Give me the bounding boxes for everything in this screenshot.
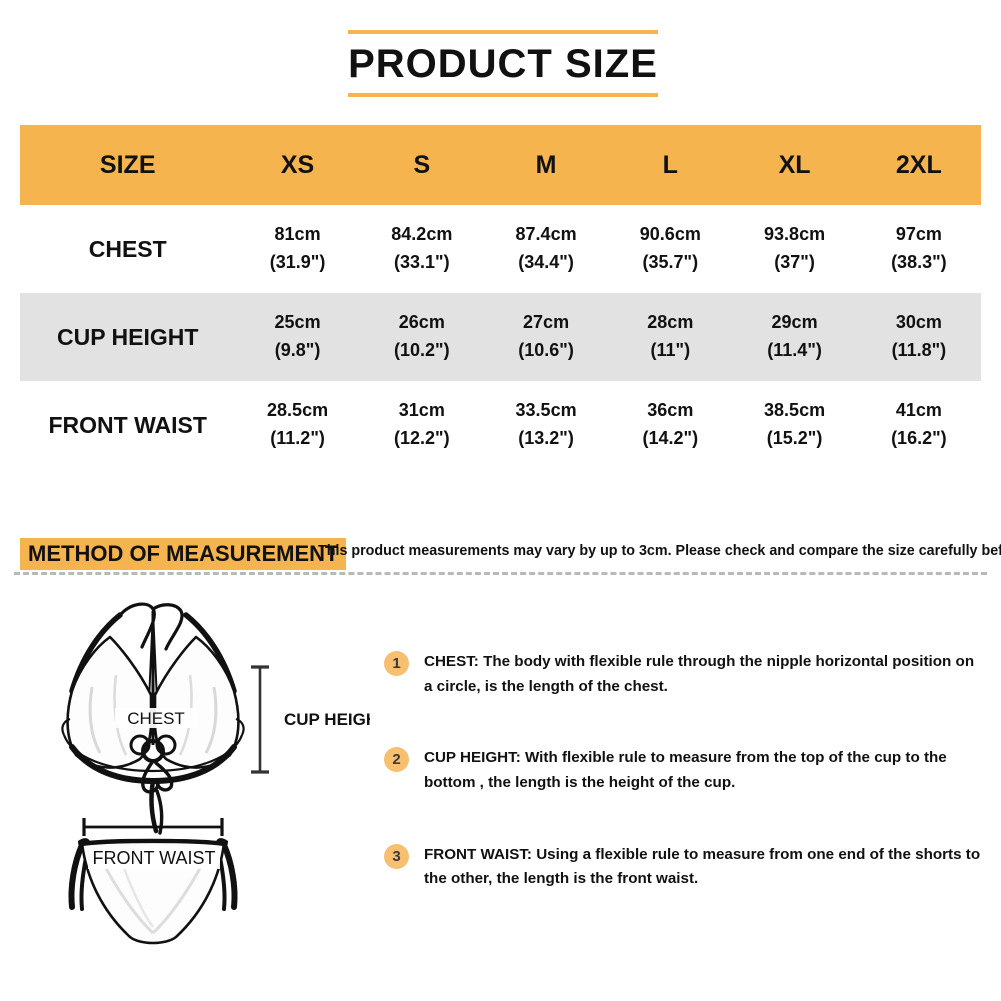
measurement-disclaimer: This product measurements may vary by up… — [318, 543, 1001, 559]
cell-cm: 27cm — [523, 312, 569, 332]
cell-cm: 41cm — [896, 400, 942, 420]
row-label-cup-height: CUP HEIGHT — [20, 293, 235, 381]
step-number-badge-2: 2 — [384, 747, 409, 772]
cell-cm: 25cm — [275, 312, 321, 332]
cell-inch: (38.3") — [857, 249, 981, 277]
cell-chest-l: 90.6cm(35.7") — [608, 205, 732, 293]
column-header-s: S — [360, 125, 484, 205]
cell-cup-height-2xl: 30cm(11.8") — [857, 293, 981, 381]
svg-text:CHEST: CHEST — [127, 709, 185, 728]
column-header-xl: XL — [732, 125, 856, 205]
cell-chest-s: 84.2cm(33.1") — [360, 205, 484, 293]
cell-inch: (13.2") — [484, 425, 608, 453]
cell-inch: (16.2") — [857, 425, 981, 453]
list-item: 2 CUP HEIGHT: With flexible rule to meas… — [384, 746, 984, 795]
cell-inch: (35.7") — [608, 249, 732, 277]
cell-chest-xs: 81cm(31.9") — [235, 205, 359, 293]
front-waist-measure-label: FRONT WAIST — [88, 847, 220, 869]
column-header-size: SIZE — [20, 125, 235, 205]
cell-front-waist-2xl: 41cm(16.2") — [857, 381, 981, 469]
cell-inch: (12.2") — [360, 425, 484, 453]
cell-cm: 81cm — [275, 224, 321, 244]
measurement-steps-list: 1 CHEST: The body with flexible rule thr… — [384, 650, 984, 939]
cell-cm: 28cm — [647, 312, 693, 332]
table-row: CHEST 81cm(31.9") 84.2cm(33.1") 87.4cm(3… — [20, 205, 981, 293]
size-chart-table: SIZE XS S M L XL 2XL CHEST 81cm(31.9") 8… — [20, 125, 981, 469]
method-of-measurement-heading: METHOD OF MEASUREMENT — [20, 538, 346, 570]
column-header-m: M — [484, 125, 608, 205]
cell-front-waist-s: 31cm(12.2") — [360, 381, 484, 469]
cell-cm: 36cm — [647, 400, 693, 420]
cell-front-waist-xs: 28.5cm(11.2") — [235, 381, 359, 469]
step-number-badge-1: 1 — [384, 651, 409, 676]
svg-text:CUP HEIGHT: CUP HEIGHT — [284, 710, 370, 729]
cell-chest-2xl: 97cm(38.3") — [857, 205, 981, 293]
cell-cm: 30cm — [896, 312, 942, 332]
cell-inch: (37") — [732, 249, 856, 277]
cell-inch: (9.8") — [235, 337, 359, 365]
cell-cm: 26cm — [399, 312, 445, 332]
row-label-chest: CHEST — [20, 205, 235, 293]
cell-cm: 97cm — [896, 224, 942, 244]
list-item: 1 CHEST: The body with flexible rule thr… — [384, 650, 984, 699]
cell-cup-height-xl: 29cm(11.4") — [732, 293, 856, 381]
cell-cup-height-m: 27cm(10.6") — [484, 293, 608, 381]
step-text-chest: CHEST: The body with flexible rule throu… — [424, 650, 984, 699]
table-row: CUP HEIGHT 25cm(9.8") 26cm(10.2") 27cm(1… — [20, 293, 981, 381]
cell-cup-height-l: 28cm(11") — [608, 293, 732, 381]
cell-inch: (11.2") — [235, 425, 359, 453]
row-label-front-waist: FRONT WAIST — [20, 381, 235, 469]
cell-front-waist-m: 33.5cm(13.2") — [484, 381, 608, 469]
bikini-measurement-illustration: CHEST CUP HEIGHT FRONT WAIST — [20, 595, 370, 955]
cell-inch: (31.9") — [235, 249, 359, 277]
cell-cm: 29cm — [772, 312, 818, 332]
step-text-cup-height: CUP HEIGHT: With flexible rule to measur… — [424, 746, 984, 795]
cell-inch: (15.2") — [732, 425, 856, 453]
cell-cm: 87.4cm — [516, 224, 577, 244]
cell-inch: (33.1") — [360, 249, 484, 277]
cell-cm: 93.8cm — [764, 224, 825, 244]
cell-cm: 31cm — [399, 400, 445, 420]
cell-front-waist-l: 36cm(14.2") — [608, 381, 732, 469]
cell-inch: (11") — [608, 337, 732, 365]
step-number-badge-3: 3 — [384, 844, 409, 869]
section-divider — [14, 572, 987, 575]
cell-cm: 28.5cm — [267, 400, 328, 420]
cell-chest-m: 87.4cm(34.4") — [484, 205, 608, 293]
cell-inch: (34.4") — [484, 249, 608, 277]
cell-front-waist-xl: 38.5cm(15.2") — [732, 381, 856, 469]
cell-cm: 38.5cm — [764, 400, 825, 420]
svg-text:FRONT WAIST: FRONT WAIST — [93, 848, 216, 868]
page-title-block: PRODUCT SIZE — [348, 30, 658, 97]
cell-inch: (14.2") — [608, 425, 732, 453]
chest-measure-label: CHEST — [115, 708, 197, 728]
cup-height-caliper: CUP HEIGHT — [251, 667, 370, 772]
table-row: FRONT WAIST 28.5cm(11.2") 31cm(12.2") 33… — [20, 381, 981, 469]
cell-chest-xl: 93.8cm(37") — [732, 205, 856, 293]
column-header-xs: XS — [235, 125, 359, 205]
cell-cup-height-s: 26cm(10.2") — [360, 293, 484, 381]
column-header-l: L — [608, 125, 732, 205]
cell-cm: 84.2cm — [391, 224, 452, 244]
cell-cm: 90.6cm — [640, 224, 701, 244]
cell-inch: (11.8") — [857, 337, 981, 365]
column-header-2xl: 2XL — [857, 125, 981, 205]
cell-inch: (11.4") — [732, 337, 856, 365]
cell-cm: 33.5cm — [516, 400, 577, 420]
step-text-front-waist: FRONT WAIST: Using a flexible rule to me… — [424, 843, 984, 892]
list-item: 3 FRONT WAIST: Using a flexible rule to … — [384, 843, 984, 892]
cell-inch: (10.2") — [360, 337, 484, 365]
page-title: PRODUCT SIZE — [348, 34, 658, 93]
cell-cup-height-xs: 25cm(9.8") — [235, 293, 359, 381]
title-rule-bottom — [348, 93, 658, 97]
table-header-row: SIZE XS S M L XL 2XL — [20, 125, 981, 205]
cell-inch: (10.6") — [484, 337, 608, 365]
